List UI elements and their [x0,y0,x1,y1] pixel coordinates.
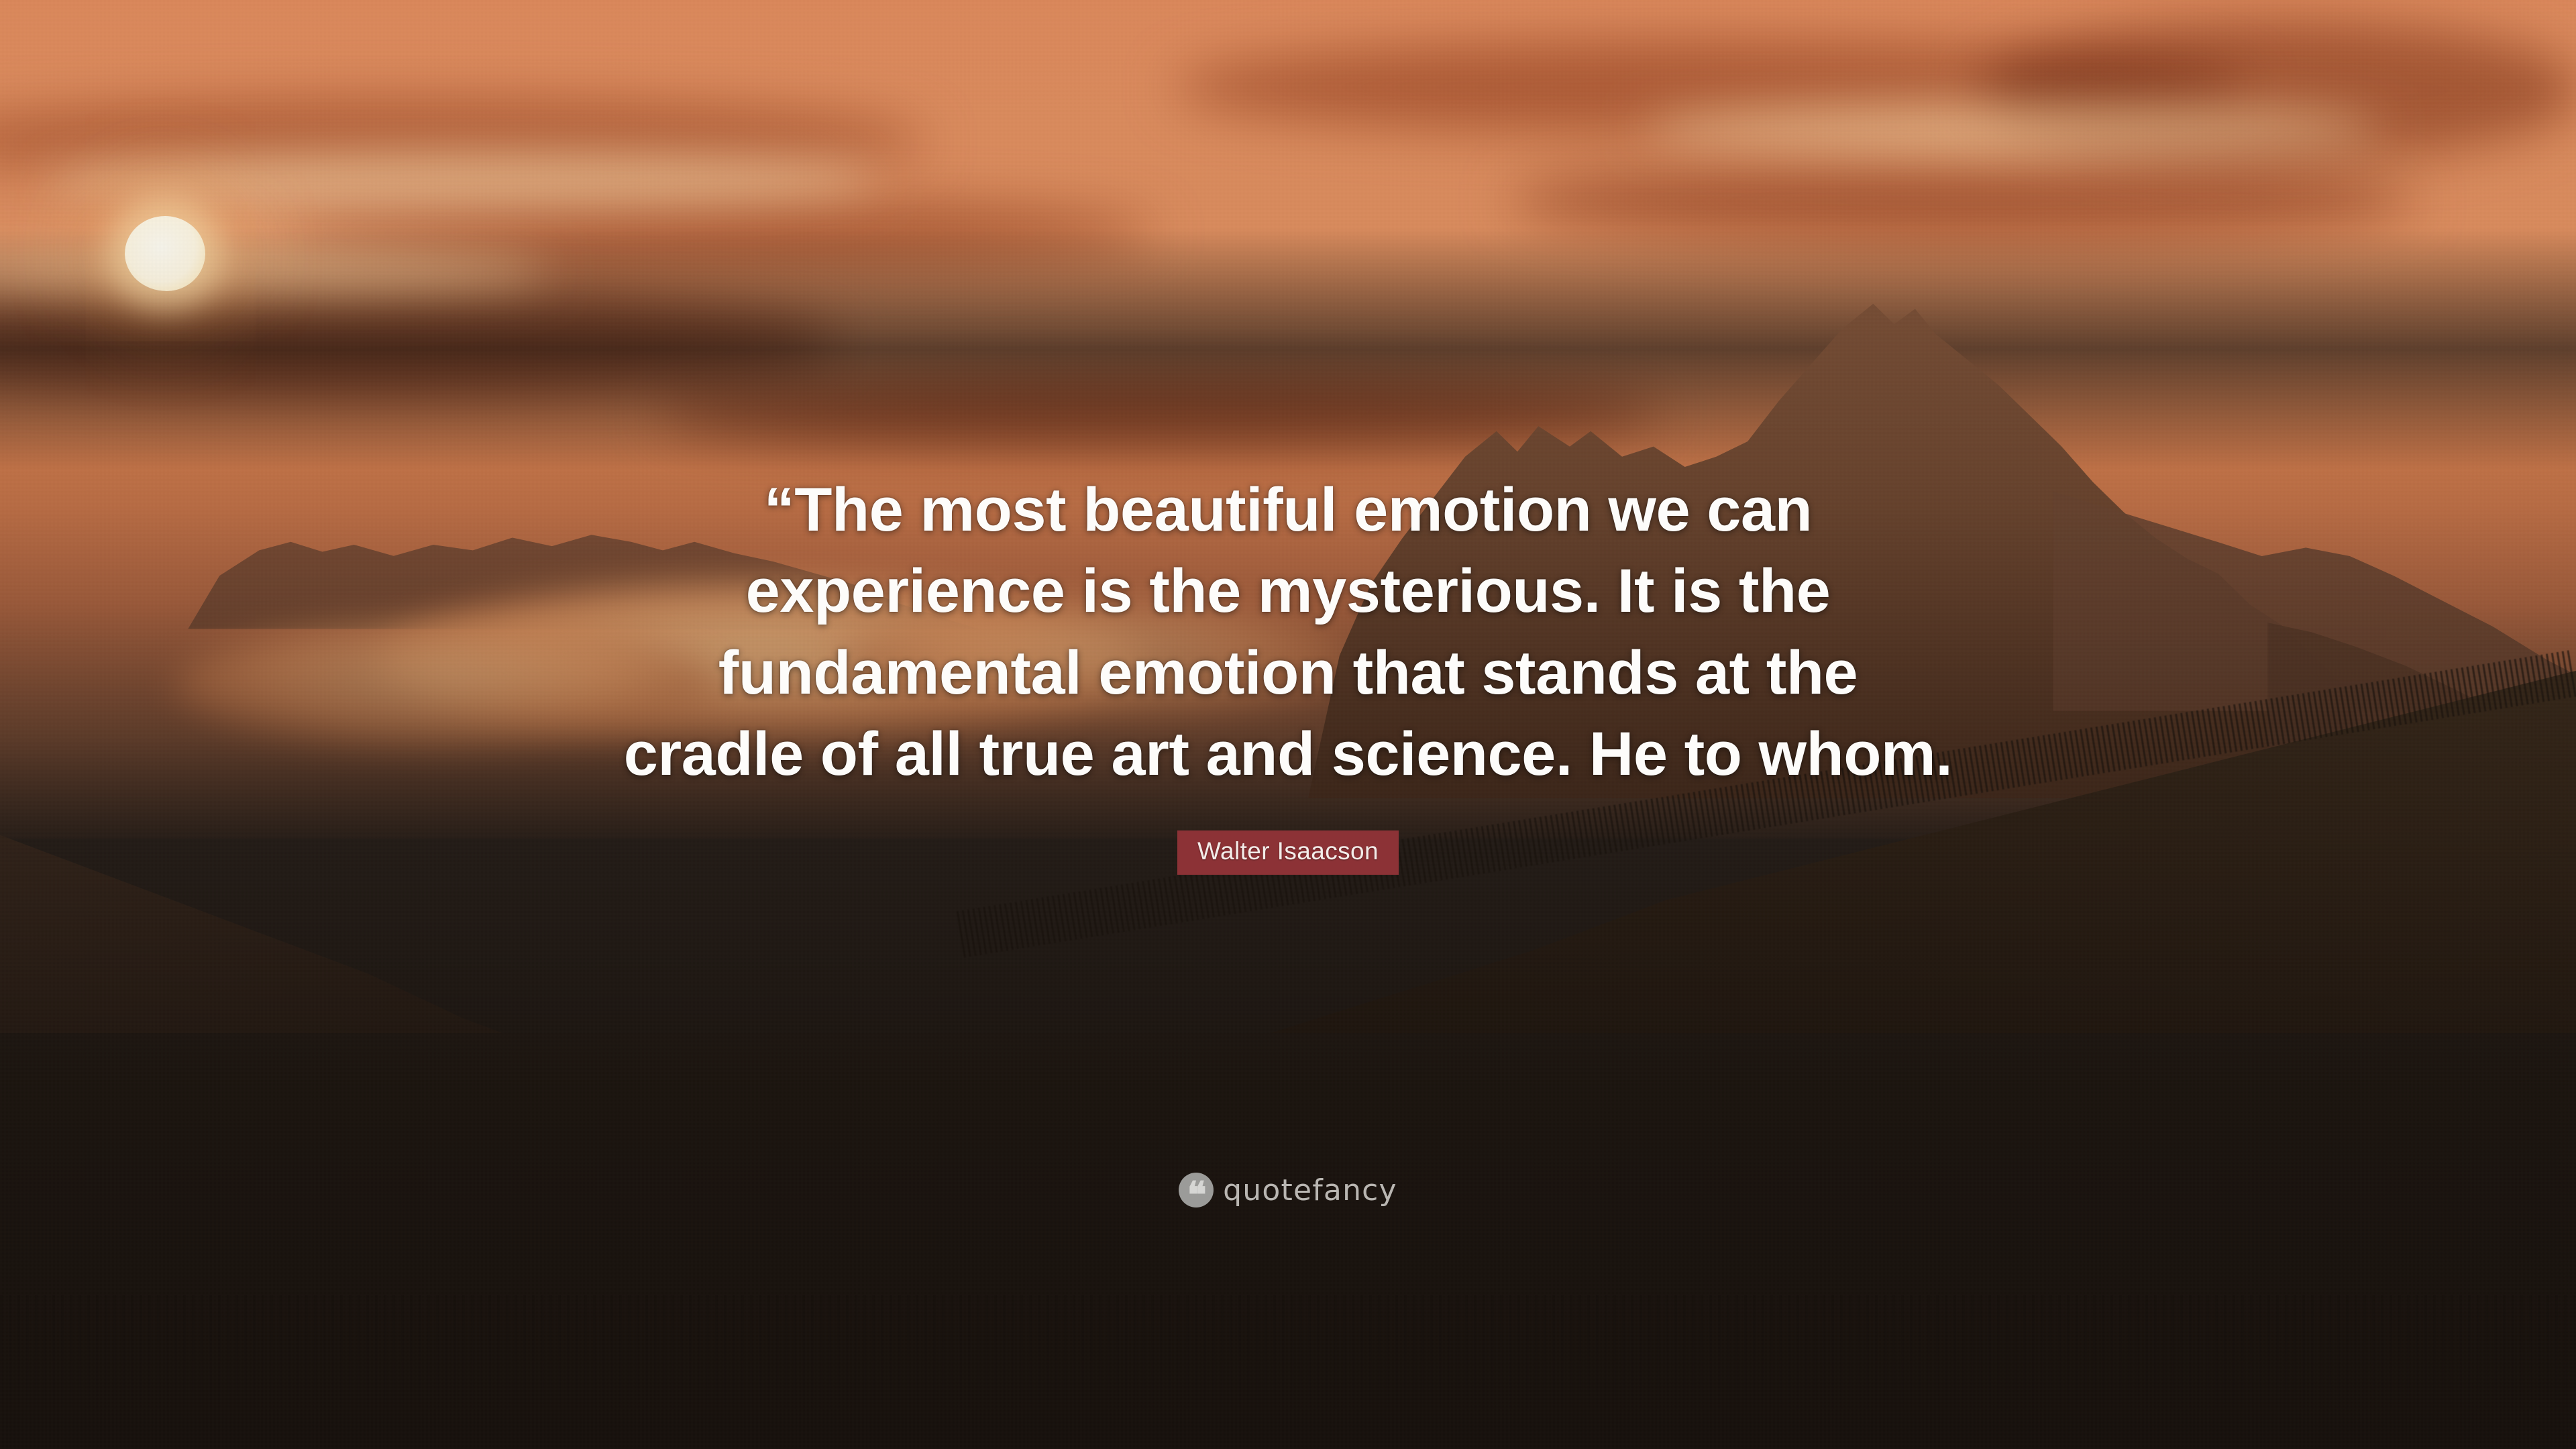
author-badge[interactable]: Walter Isaacson [1177,830,1399,875]
quote-text: “The most beautiful emotion we can exper… [517,470,2059,796]
wallpaper-canvas: “The most beautiful emotion we can exper… [0,0,2576,1449]
quote-line: cradle of all true art and science. He t… [517,714,2059,795]
quotefancy-logo[interactable]: ❝ quotefancy [0,1173,2576,1207]
overlay-content: “The most beautiful emotion we can exper… [0,0,2576,1449]
quote-line: experience is the mysterious. It is the [517,551,2059,632]
author-badge-wrap: Walter Isaacson [1177,830,1399,875]
brand-name: quotefancy [1223,1173,1397,1207]
quote-line: fundamental emotion that stands at the [517,633,2059,714]
quote-line: “The most beautiful emotion we can [517,470,2059,551]
quote-mark-icon: ❝ [1179,1173,1214,1207]
